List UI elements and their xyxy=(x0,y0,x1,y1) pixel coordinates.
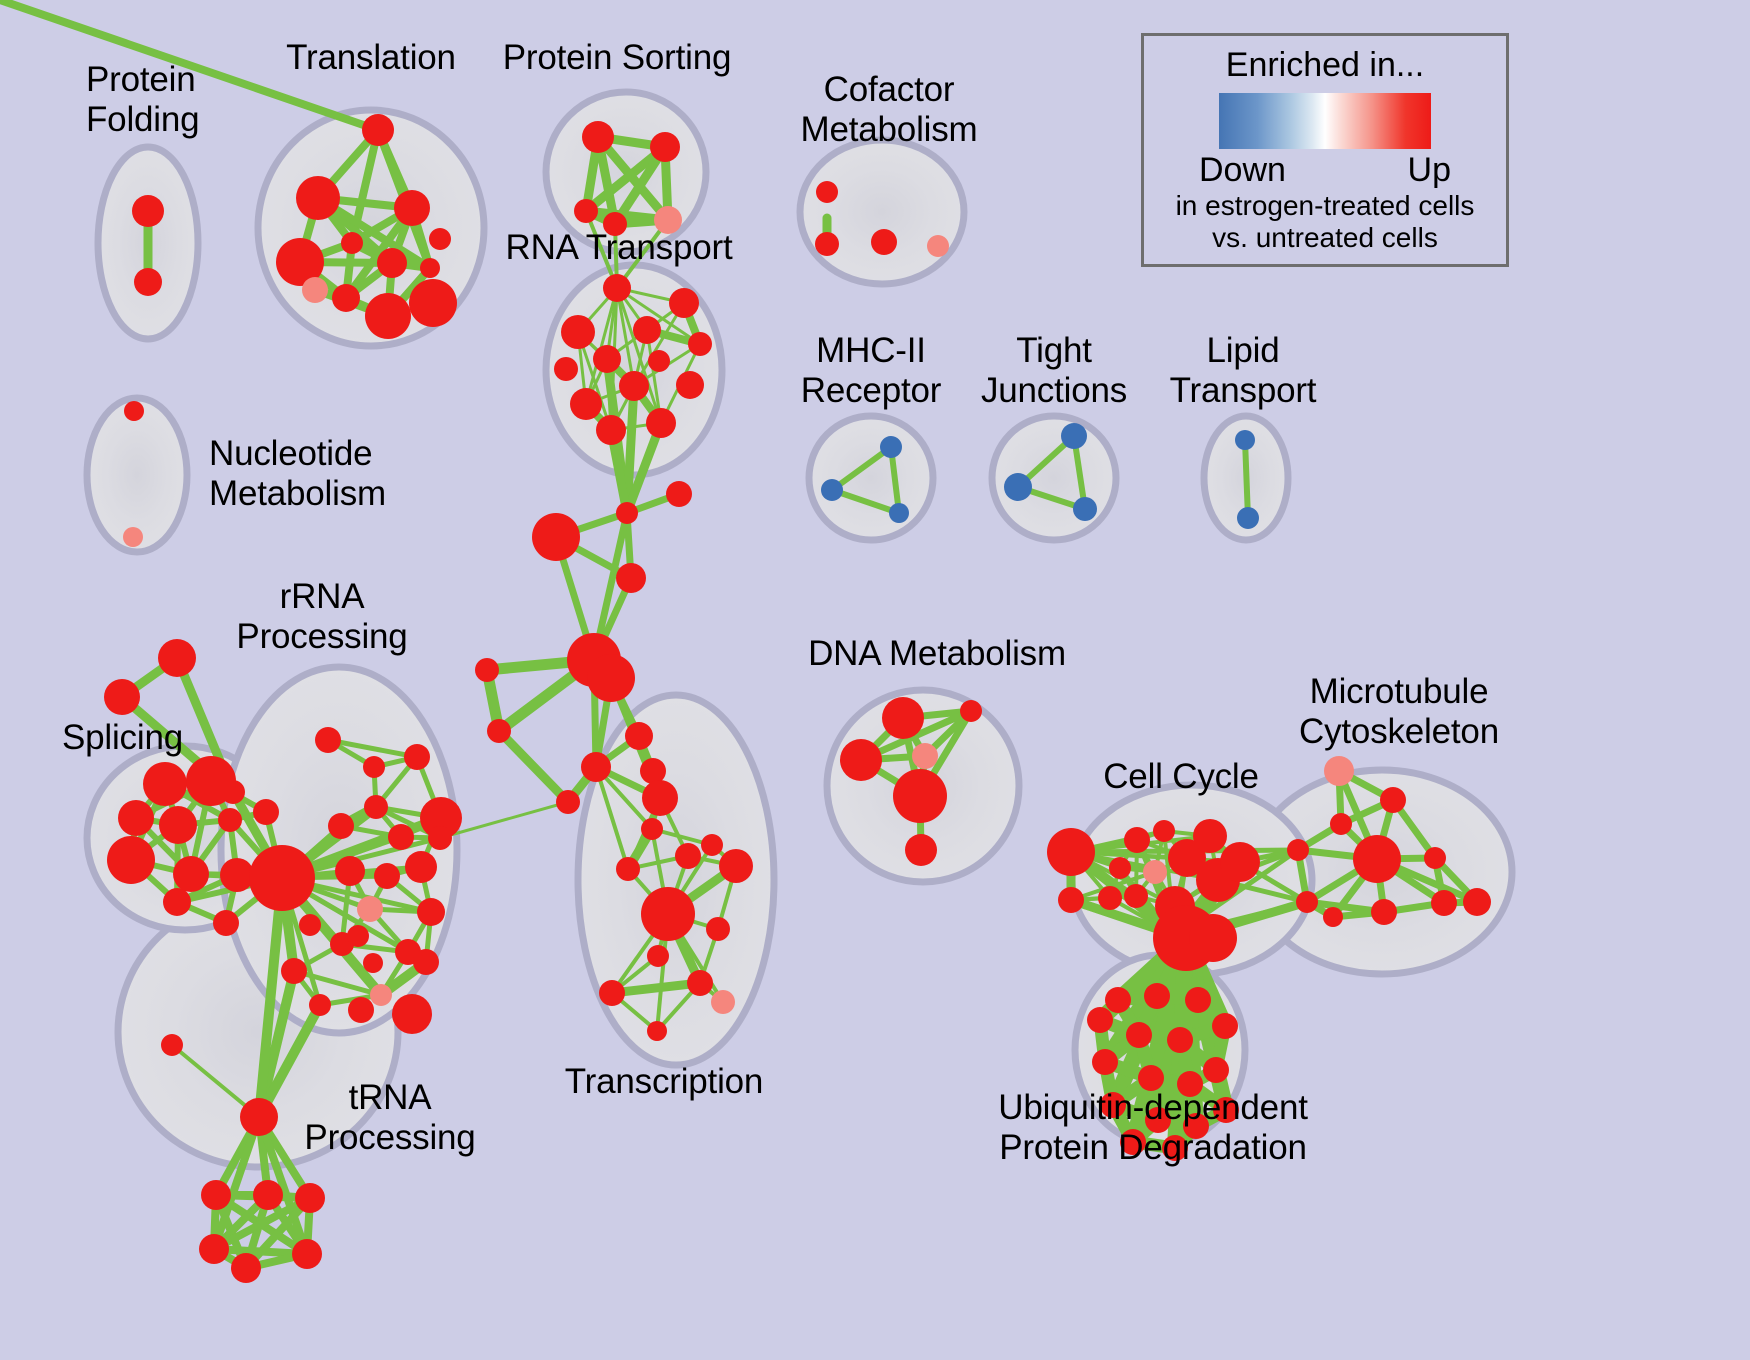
node xyxy=(593,345,621,373)
node xyxy=(220,858,254,892)
node xyxy=(647,945,669,967)
node xyxy=(132,195,164,227)
node xyxy=(348,997,374,1023)
node xyxy=(134,268,162,296)
node xyxy=(1296,891,1318,913)
node xyxy=(647,1021,667,1041)
node xyxy=(240,1098,278,1136)
cluster-label-ubiquitin-degradation: Ubiquitin-dependent Protein Degradation xyxy=(998,1088,1308,1168)
node xyxy=(1047,828,1095,876)
node xyxy=(1189,914,1237,962)
node xyxy=(1431,890,1457,916)
node xyxy=(1109,857,1131,879)
cluster-label-protein-folding: Protein Folding xyxy=(86,60,199,140)
node xyxy=(163,888,191,916)
node xyxy=(405,851,437,883)
node xyxy=(328,813,354,839)
node xyxy=(332,284,360,312)
node xyxy=(642,780,678,816)
node xyxy=(532,513,580,561)
node xyxy=(1124,827,1150,853)
cluster-label-nucleotide-metabolism: Nucleotide Metabolism xyxy=(209,434,386,514)
node xyxy=(1235,430,1255,450)
cluster-label-cell-cycle: Cell Cycle xyxy=(1103,757,1259,797)
node xyxy=(1323,907,1343,927)
node xyxy=(1463,888,1491,916)
node xyxy=(581,752,611,782)
node xyxy=(880,436,902,458)
node xyxy=(392,994,432,1034)
node xyxy=(161,1034,183,1056)
node xyxy=(309,994,331,1016)
node xyxy=(1004,473,1032,501)
cluster-label-cofactor-metabolism: Cofactor Metabolism xyxy=(801,70,978,150)
node xyxy=(666,481,692,507)
node xyxy=(1073,497,1097,521)
node xyxy=(429,228,451,250)
node xyxy=(249,845,315,911)
node xyxy=(599,980,625,1006)
node xyxy=(889,503,909,523)
node xyxy=(871,229,897,255)
node xyxy=(357,896,383,922)
node xyxy=(1061,423,1087,449)
node xyxy=(173,856,209,892)
node xyxy=(1058,887,1084,913)
node xyxy=(1193,819,1227,853)
node xyxy=(1124,884,1148,908)
node xyxy=(388,824,414,850)
node xyxy=(107,836,155,884)
node xyxy=(587,654,635,702)
node xyxy=(669,288,699,318)
node xyxy=(159,806,197,844)
node xyxy=(574,199,598,223)
legend-down-label: Down xyxy=(1199,151,1286,190)
node xyxy=(556,790,580,814)
node xyxy=(640,758,666,784)
node xyxy=(960,700,982,722)
node xyxy=(554,357,578,381)
node xyxy=(641,887,695,941)
node xyxy=(302,277,328,303)
legend-up-label: Up xyxy=(1408,151,1451,190)
node xyxy=(347,925,369,947)
node xyxy=(648,350,670,372)
node xyxy=(582,121,614,153)
node xyxy=(619,371,649,401)
node xyxy=(625,722,653,750)
node xyxy=(299,914,321,936)
node xyxy=(1185,987,1211,1013)
node xyxy=(475,658,499,682)
node xyxy=(570,388,602,420)
node xyxy=(374,863,400,889)
cluster-label-microtubule-cytoskeleton: Microtubule Cytoskeleton xyxy=(1299,672,1499,752)
node xyxy=(315,727,341,753)
legend-box: Enriched in... Down Up in estrogen-treat… xyxy=(1141,33,1509,267)
node xyxy=(616,857,640,881)
node xyxy=(1126,1022,1152,1048)
node xyxy=(912,743,938,769)
cluster-label-dna-metabolism: DNA Metabolism xyxy=(808,634,1066,674)
node xyxy=(363,756,385,778)
hull-cofactor-metabolism xyxy=(800,140,964,284)
node xyxy=(118,800,154,836)
node xyxy=(816,181,838,203)
node xyxy=(363,953,383,973)
node xyxy=(1143,860,1167,884)
node xyxy=(362,114,394,146)
node xyxy=(1380,787,1406,813)
node xyxy=(253,799,279,825)
cluster-label-trna-processing: tRNA Processing xyxy=(304,1078,475,1158)
node xyxy=(1153,820,1175,842)
node xyxy=(124,401,144,421)
cluster-label-mhc-ii-receptor: MHC-II Receptor xyxy=(801,331,941,411)
node xyxy=(633,316,661,344)
node xyxy=(675,843,701,869)
node xyxy=(104,679,140,715)
node xyxy=(882,697,924,739)
node xyxy=(1424,847,1446,869)
cluster-label-splicing: Splicing xyxy=(62,718,183,758)
node xyxy=(231,1253,261,1283)
node xyxy=(701,834,723,856)
node xyxy=(1220,842,1260,882)
node xyxy=(927,235,949,257)
node xyxy=(417,898,445,926)
node xyxy=(1371,899,1397,925)
node xyxy=(646,408,676,438)
cluster-label-transcription: Transcription xyxy=(565,1062,763,1102)
node xyxy=(123,527,143,547)
node xyxy=(186,756,236,806)
node xyxy=(641,818,663,840)
node xyxy=(420,258,440,278)
node xyxy=(199,1234,229,1264)
hull-mhc-ii-receptor xyxy=(809,416,933,540)
node xyxy=(394,190,430,226)
node xyxy=(561,315,595,349)
node xyxy=(711,990,735,1014)
cluster-label-tight-junctions: Tight Junctions xyxy=(981,331,1127,411)
node xyxy=(404,744,430,770)
legend-endpoints: Down Up xyxy=(1199,151,1451,190)
node xyxy=(364,795,388,819)
node xyxy=(143,762,187,806)
node xyxy=(296,176,340,220)
node xyxy=(1287,839,1309,861)
node xyxy=(687,970,713,996)
node xyxy=(413,949,439,975)
node xyxy=(158,639,196,677)
node xyxy=(370,984,392,1006)
node xyxy=(1203,1057,1229,1083)
node xyxy=(596,415,626,445)
node xyxy=(616,563,646,593)
cluster-label-rna-transport: RNA Transport xyxy=(506,228,733,268)
node xyxy=(821,479,843,501)
legend-title: Enriched in... xyxy=(1226,46,1424,85)
node xyxy=(719,849,753,883)
node xyxy=(1167,1027,1193,1053)
cluster-label-lipid-transport: Lipid Transport xyxy=(1170,331,1317,411)
node xyxy=(295,1183,325,1213)
node xyxy=(815,232,839,256)
node xyxy=(218,808,242,832)
legend-color-gradient xyxy=(1219,93,1431,149)
node xyxy=(1105,987,1131,1013)
node xyxy=(213,910,239,936)
node xyxy=(335,856,365,886)
node xyxy=(840,739,882,781)
node xyxy=(253,1180,283,1210)
node xyxy=(1087,1007,1113,1033)
node xyxy=(616,502,638,524)
node xyxy=(1353,835,1401,883)
node xyxy=(676,371,704,399)
node xyxy=(1092,1049,1118,1075)
node xyxy=(905,834,937,866)
node xyxy=(428,826,452,850)
node xyxy=(1212,1013,1238,1039)
node xyxy=(341,232,363,254)
node xyxy=(603,274,631,302)
node xyxy=(201,1180,231,1210)
node xyxy=(409,279,457,327)
node xyxy=(688,332,712,356)
cluster-label-translation: Translation xyxy=(286,38,456,78)
node xyxy=(893,769,947,823)
network-figure: Protein Folding Translation Protein Sort… xyxy=(0,0,1750,1360)
node xyxy=(365,293,411,339)
legend-subtitle-line1: in estrogen-treated cells xyxy=(1176,190,1475,222)
node xyxy=(281,958,307,984)
node xyxy=(706,917,730,941)
legend-subtitle-line2: vs. untreated cells xyxy=(1212,222,1438,254)
node xyxy=(1144,983,1170,1009)
node xyxy=(1237,507,1259,529)
node xyxy=(487,719,511,743)
cluster-label-rrna-processing: rRNA Processing xyxy=(236,577,407,657)
cluster-label-protein-sorting: Protein Sorting xyxy=(503,38,732,78)
node xyxy=(1098,886,1122,910)
node xyxy=(377,248,407,278)
node xyxy=(292,1239,322,1269)
node xyxy=(1324,756,1354,786)
node xyxy=(1330,813,1352,835)
node xyxy=(650,132,680,162)
